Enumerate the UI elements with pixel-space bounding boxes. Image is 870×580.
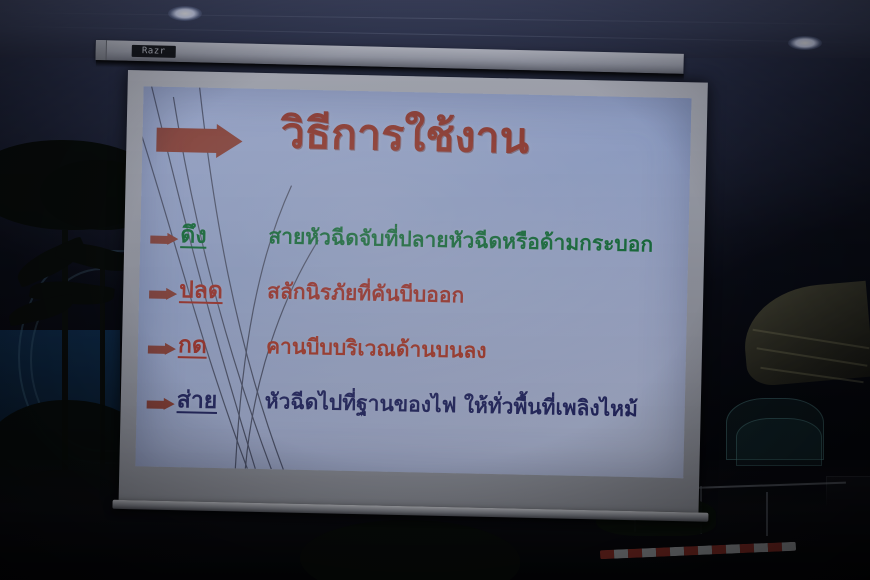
bullet-keyword: ดึง bbox=[180, 217, 263, 255]
bullet-text: สายหัวฉีดจับที่ปลายหัวฉีดหรือด้ามกระบอก bbox=[268, 220, 653, 261]
photo-scene: Razr วิธีการใช้งาน bbox=[0, 0, 870, 580]
screen-brand-label: Razr bbox=[132, 45, 176, 58]
slide-title: วิธีการใช้งาน bbox=[280, 111, 681, 165]
bullet-arrow-icon bbox=[150, 233, 178, 247]
bullet-text: คานบีบบริเวณด้านบนลง bbox=[266, 330, 487, 368]
bullet-list: ดึง สายหัวฉีดจับที่ปลายหัวฉีดหรือด้ามกระ… bbox=[146, 215, 689, 447]
rail-post-3 bbox=[766, 492, 768, 536]
valance-end-cap bbox=[96, 40, 107, 60]
downlight-right-icon bbox=[788, 36, 822, 50]
bullet-arrow-icon bbox=[149, 288, 177, 302]
bullet-keyword: กด bbox=[178, 327, 261, 365]
bullet-arrow-icon bbox=[148, 343, 176, 357]
projected-slide: วิธีการใช้งาน ดึง สายหัวฉีดจับที่ปลายหัว… bbox=[135, 86, 691, 478]
title-arrow-icon bbox=[156, 123, 243, 159]
bullet-text: หัวฉีดไปที่ฐานของไฟ ให้ทั่วพื้นที่เพลิงไ… bbox=[264, 385, 638, 426]
bullet-row: ส่าย หัวฉีดไปที่ฐานของไฟ ให้ทั่วพื้นที่เ… bbox=[146, 379, 685, 446]
downlight-left-icon bbox=[168, 6, 202, 21]
bullet-arrow-icon bbox=[147, 397, 175, 411]
bullet-keyword: ส่าย bbox=[176, 382, 259, 420]
bullet-keyword: ปลด bbox=[179, 272, 262, 310]
projector-screen: วิธีการใช้งาน ดึง สายหัวฉีดจับที่ปลายหัว… bbox=[119, 70, 708, 513]
bullet-text: สลักนิรภัยที่คันบีบออก bbox=[267, 275, 465, 312]
glass-railing-2 bbox=[736, 418, 822, 466]
